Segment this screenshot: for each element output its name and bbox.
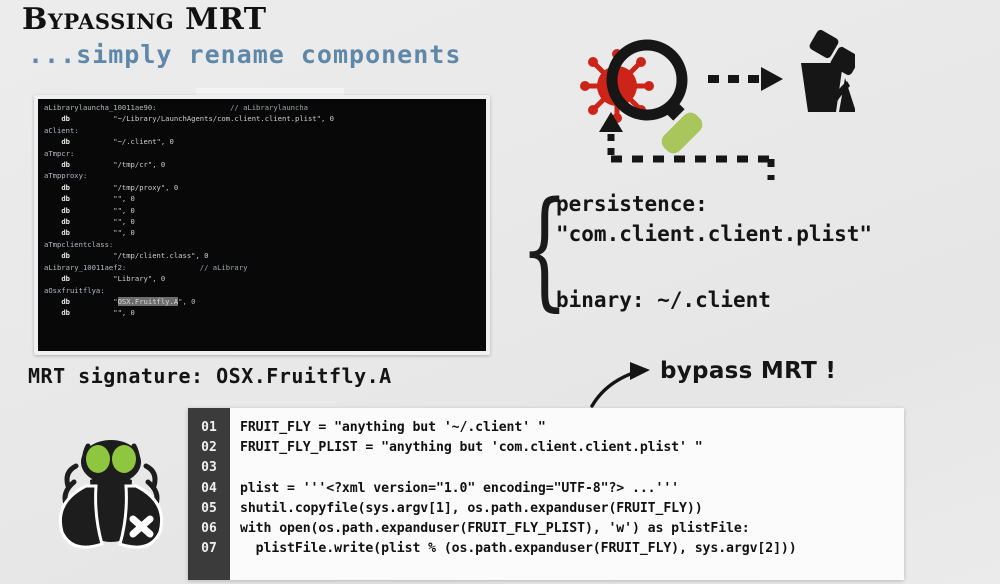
disassembly-line: db "Library", 0 <box>44 273 480 284</box>
code-line-number: 05 <box>188 499 230 519</box>
code-line-number: 01 <box>188 418 230 438</box>
page-title: Bypassing MRT <box>22 2 267 37</box>
trash-can-icon <box>801 28 855 112</box>
disassembly-line: db "~/.client", 0 <box>44 136 480 147</box>
disassembly-line: db "", 0 <box>44 193 480 204</box>
code-line-number: 06 <box>188 519 230 539</box>
code-line: with open(os.path.expanduser(FRUIT_FLY_P… <box>240 519 904 539</box>
persistence-value: "com.client.client.plist" <box>556 222 872 246</box>
code-line-number: 03 <box>188 458 230 478</box>
disassembly-line: db "", 0 <box>44 205 480 216</box>
detection-flow-svg <box>575 28 855 188</box>
code-line: FRUIT_FLY_PLIST = "anything but 'com.cli… <box>240 438 904 458</box>
code-line-number: 02 <box>188 438 230 458</box>
code-content: FRUIT_FLY = "anything but '~/.client' "F… <box>230 408 904 580</box>
disassembly-line: db "", 0 <box>44 216 480 227</box>
fly-svg <box>46 420 176 570</box>
disassembly-line: aLibrarylauncha_10011ae90: // aLibraryla… <box>44 102 480 113</box>
disassembly-line: aOsxfruitflya: <box>44 285 480 296</box>
bypass-mrt-note: bypass MRT ! <box>660 358 836 384</box>
code-line-number: 04 <box>188 479 230 499</box>
disassembly-line: db "OSX.Fruitfly.A", 0 <box>44 296 480 307</box>
slide-root: Bypassing MRT ...simply rename component… <box>0 0 1000 584</box>
disassembly-line: db "/tmp/client.class", 0 <box>44 250 480 261</box>
code-line: FRUIT_FLY = "anything but '~/.client' " <box>240 418 904 438</box>
disassembly-line: db "", 0 <box>44 227 480 238</box>
disassembly-line: aTmpproxy: <box>44 170 480 181</box>
fly-icon <box>46 420 176 570</box>
persistence-label: persistence: <box>556 192 708 216</box>
code-line-numbers: 01020304050607 <box>188 408 230 580</box>
disassembly-line: db "", 0 <box>44 307 480 318</box>
disassembly-line: aClient: <box>44 125 480 136</box>
code-line <box>240 458 904 478</box>
page-subtitle: ...simply rename components <box>28 40 461 69</box>
binary-label: binary: ~/.client <box>556 288 771 312</box>
disassembly-terminal: aLibrarylauncha_10011ae90: // aLibraryla… <box>34 95 490 355</box>
code-line: shutil.copyfile(sys.argv[1], os.path.exp… <box>240 499 904 519</box>
disassembly-line: db "/tmp/cr", 0 <box>44 159 480 170</box>
code-line: plist = '''<?xml version="1.0" encoding=… <box>240 479 904 499</box>
detection-flow-graphic <box>575 28 855 188</box>
disassembly-line: aTmpcr: <box>44 148 480 159</box>
disassembly-line: db "~/Library/LaunchAgents/com.client.cl… <box>44 113 480 124</box>
disassembly-line: db "/tmp/proxy", 0 <box>44 182 480 193</box>
dashed-arrow-icon <box>708 67 783 91</box>
magnifying-glass-icon <box>612 45 706 157</box>
code-panel: 01020304050607 FRUIT_FLY = "anything but… <box>188 408 904 580</box>
mrt-signature-label: MRT signature: OSX.Fruitfly.A <box>28 364 392 388</box>
bypass-arrow-icon <box>588 352 664 415</box>
code-line-number: 07 <box>188 539 230 559</box>
disassembly-line: aLibrary_10011aef2: // aLibrary <box>44 262 480 273</box>
code-line: plistFile.write(plist % (os.path.expandu… <box>240 539 904 559</box>
disassembly-text: aLibrarylauncha_10011ae90: // aLibraryla… <box>38 99 486 351</box>
disassembly-line: aTmpclientclass: <box>44 239 480 250</box>
